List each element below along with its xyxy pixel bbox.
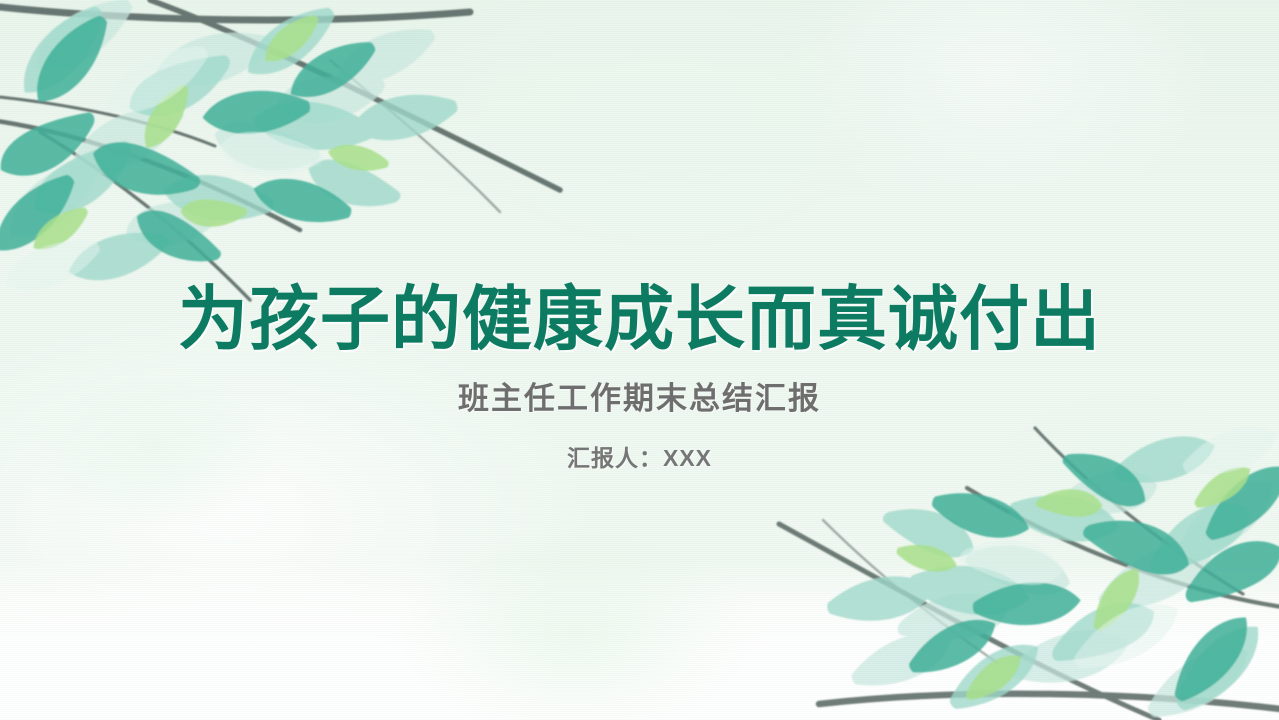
presentation-slide: 为孩子的健康成长而真诚付出 班主任工作期末总结汇报 汇报人：XXX (0, 0, 1279, 720)
page-title: 为孩子的健康成长而真诚付出 (0, 283, 1279, 356)
title-block: 为孩子的健康成长而真诚付出 班主任工作期末总结汇报 汇报人：XXX (0, 283, 1279, 473)
presenter-label: 汇报人：XXX (0, 445, 1279, 473)
slide-subtitle: 班主任工作期末总结汇报 (0, 380, 1279, 417)
